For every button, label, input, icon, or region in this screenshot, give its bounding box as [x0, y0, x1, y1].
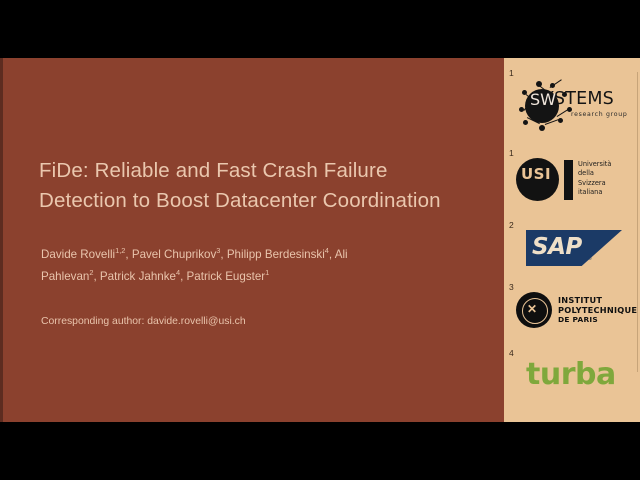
affiliation-number-usi: 1 — [509, 148, 514, 158]
network-node-icon — [522, 90, 527, 95]
ipp-name-line-3: DE PARIS — [558, 315, 637, 325]
usi-name-line-2: della — [578, 169, 611, 178]
network-node-icon — [539, 125, 545, 131]
affiliation-usi: 1 USI Università della Svizzera italiana — [504, 146, 640, 214]
video-frame: FiDe: Reliable and Fast Crash Failure De… — [0, 0, 640, 480]
sap-registered-mark: ® — [588, 256, 592, 262]
usi-name-line-4: italiana — [578, 188, 611, 197]
usi-vertical-bar — [564, 160, 573, 200]
author-philipp-berdesinski: , Philipp Berdesinski — [220, 248, 324, 261]
turba-logo: turba — [526, 358, 616, 392]
title-line-1: FiDe: Reliable and Fast Crash Failure — [39, 156, 499, 186]
swystems-subtitle: research group — [571, 111, 628, 118]
network-node-icon — [519, 107, 524, 112]
usi-name-line-3: Svizzera — [578, 179, 611, 188]
title-line-2: Detection to Boost Datacenter Coordinati… — [39, 186, 499, 216]
authors-line-1: Davide Rovelli1,2, Pavel Chuprikov3, Phi… — [41, 244, 461, 266]
author-patrick-jahnke: , Patrick Jahnke — [93, 270, 175, 283]
author-sup-1: 1,2 — [115, 246, 125, 255]
network-node-icon — [558, 118, 563, 123]
author-davide-rovelli: Davide Rovelli — [41, 248, 115, 261]
affiliation-institut-polytechnique-de-paris: 3 ✕ INSTITUT POLYTECHNIQUE DE PARIS — [504, 280, 640, 342]
affiliation-sap: 2 SAP ® — [504, 218, 640, 278]
institut-polytechnique-de-paris-logo: ✕ INSTITUT POLYTECHNIQUE DE PARIS — [516, 290, 636, 332]
author-ali-partial: , Ali — [329, 248, 348, 261]
network-node-icon — [536, 81, 542, 87]
author-pavel-chuprikov: , Pavel Chuprikov — [125, 248, 216, 261]
page-title: FiDe: Reliable and Fast Crash Failure De… — [39, 156, 499, 216]
swystems-logo: SW YSTEMS research group — [517, 80, 635, 132]
affiliation-swystems: 1 — [504, 66, 640, 142]
swystems-mark-letters: SW — [530, 90, 556, 109]
author-pahlevan: Pahlevan — [41, 270, 89, 283]
usi-name-block: Università della Svizzera italiana — [578, 160, 611, 198]
authors-line-2: Pahlevan2, Patrick Jahnke4, Patrick Eugs… — [41, 266, 461, 288]
ipp-name-line-1: INSTITUT — [558, 295, 637, 305]
ipp-seal-glyph: ✕ — [527, 303, 537, 315]
author-sup-6: 1 — [265, 268, 269, 277]
network-node-icon — [550, 83, 555, 88]
usi-logo: USI Università della Svizzera italiana — [516, 156, 632, 204]
author-patrick-eugster: , Patrick Eugster — [180, 270, 265, 283]
ipp-name-block: INSTITUT POLYTECHNIQUE DE PARIS — [558, 295, 637, 326]
affiliation-number-ipp: 3 — [509, 282, 514, 292]
ipp-name-line-2: POLYTECHNIQUE — [558, 305, 637, 315]
slide-main-panel: FiDe: Reliable and Fast Crash Failure De… — [3, 58, 504, 422]
usi-mark-letters: USI — [521, 165, 554, 193]
affiliations-sidebar: 1 — [504, 58, 640, 422]
sap-logo: SAP ® — [526, 230, 622, 266]
corresponding-author-text: Corresponding author: davide.rovelli@usi… — [41, 314, 461, 330]
affiliation-turba: 4 turba — [504, 346, 640, 406]
usi-name-line-1: Università — [578, 160, 611, 169]
corresponding-author-block: Corresponding author: davide.rovelli@usi… — [41, 314, 461, 330]
affiliation-number-swystems: 1 — [509, 68, 514, 78]
presentation-slide: FiDe: Reliable and Fast Crash Failure De… — [0, 58, 640, 422]
ipp-seal-icon: ✕ — [516, 292, 552, 328]
affiliation-number-sap: 2 — [509, 220, 514, 230]
network-node-icon — [523, 120, 528, 125]
authors-list: Davide Rovelli1,2, Pavel Chuprikov3, Phi… — [41, 244, 461, 288]
affiliation-number-turba: 4 — [509, 348, 514, 358]
sap-wordmark: SAP — [532, 234, 582, 260]
